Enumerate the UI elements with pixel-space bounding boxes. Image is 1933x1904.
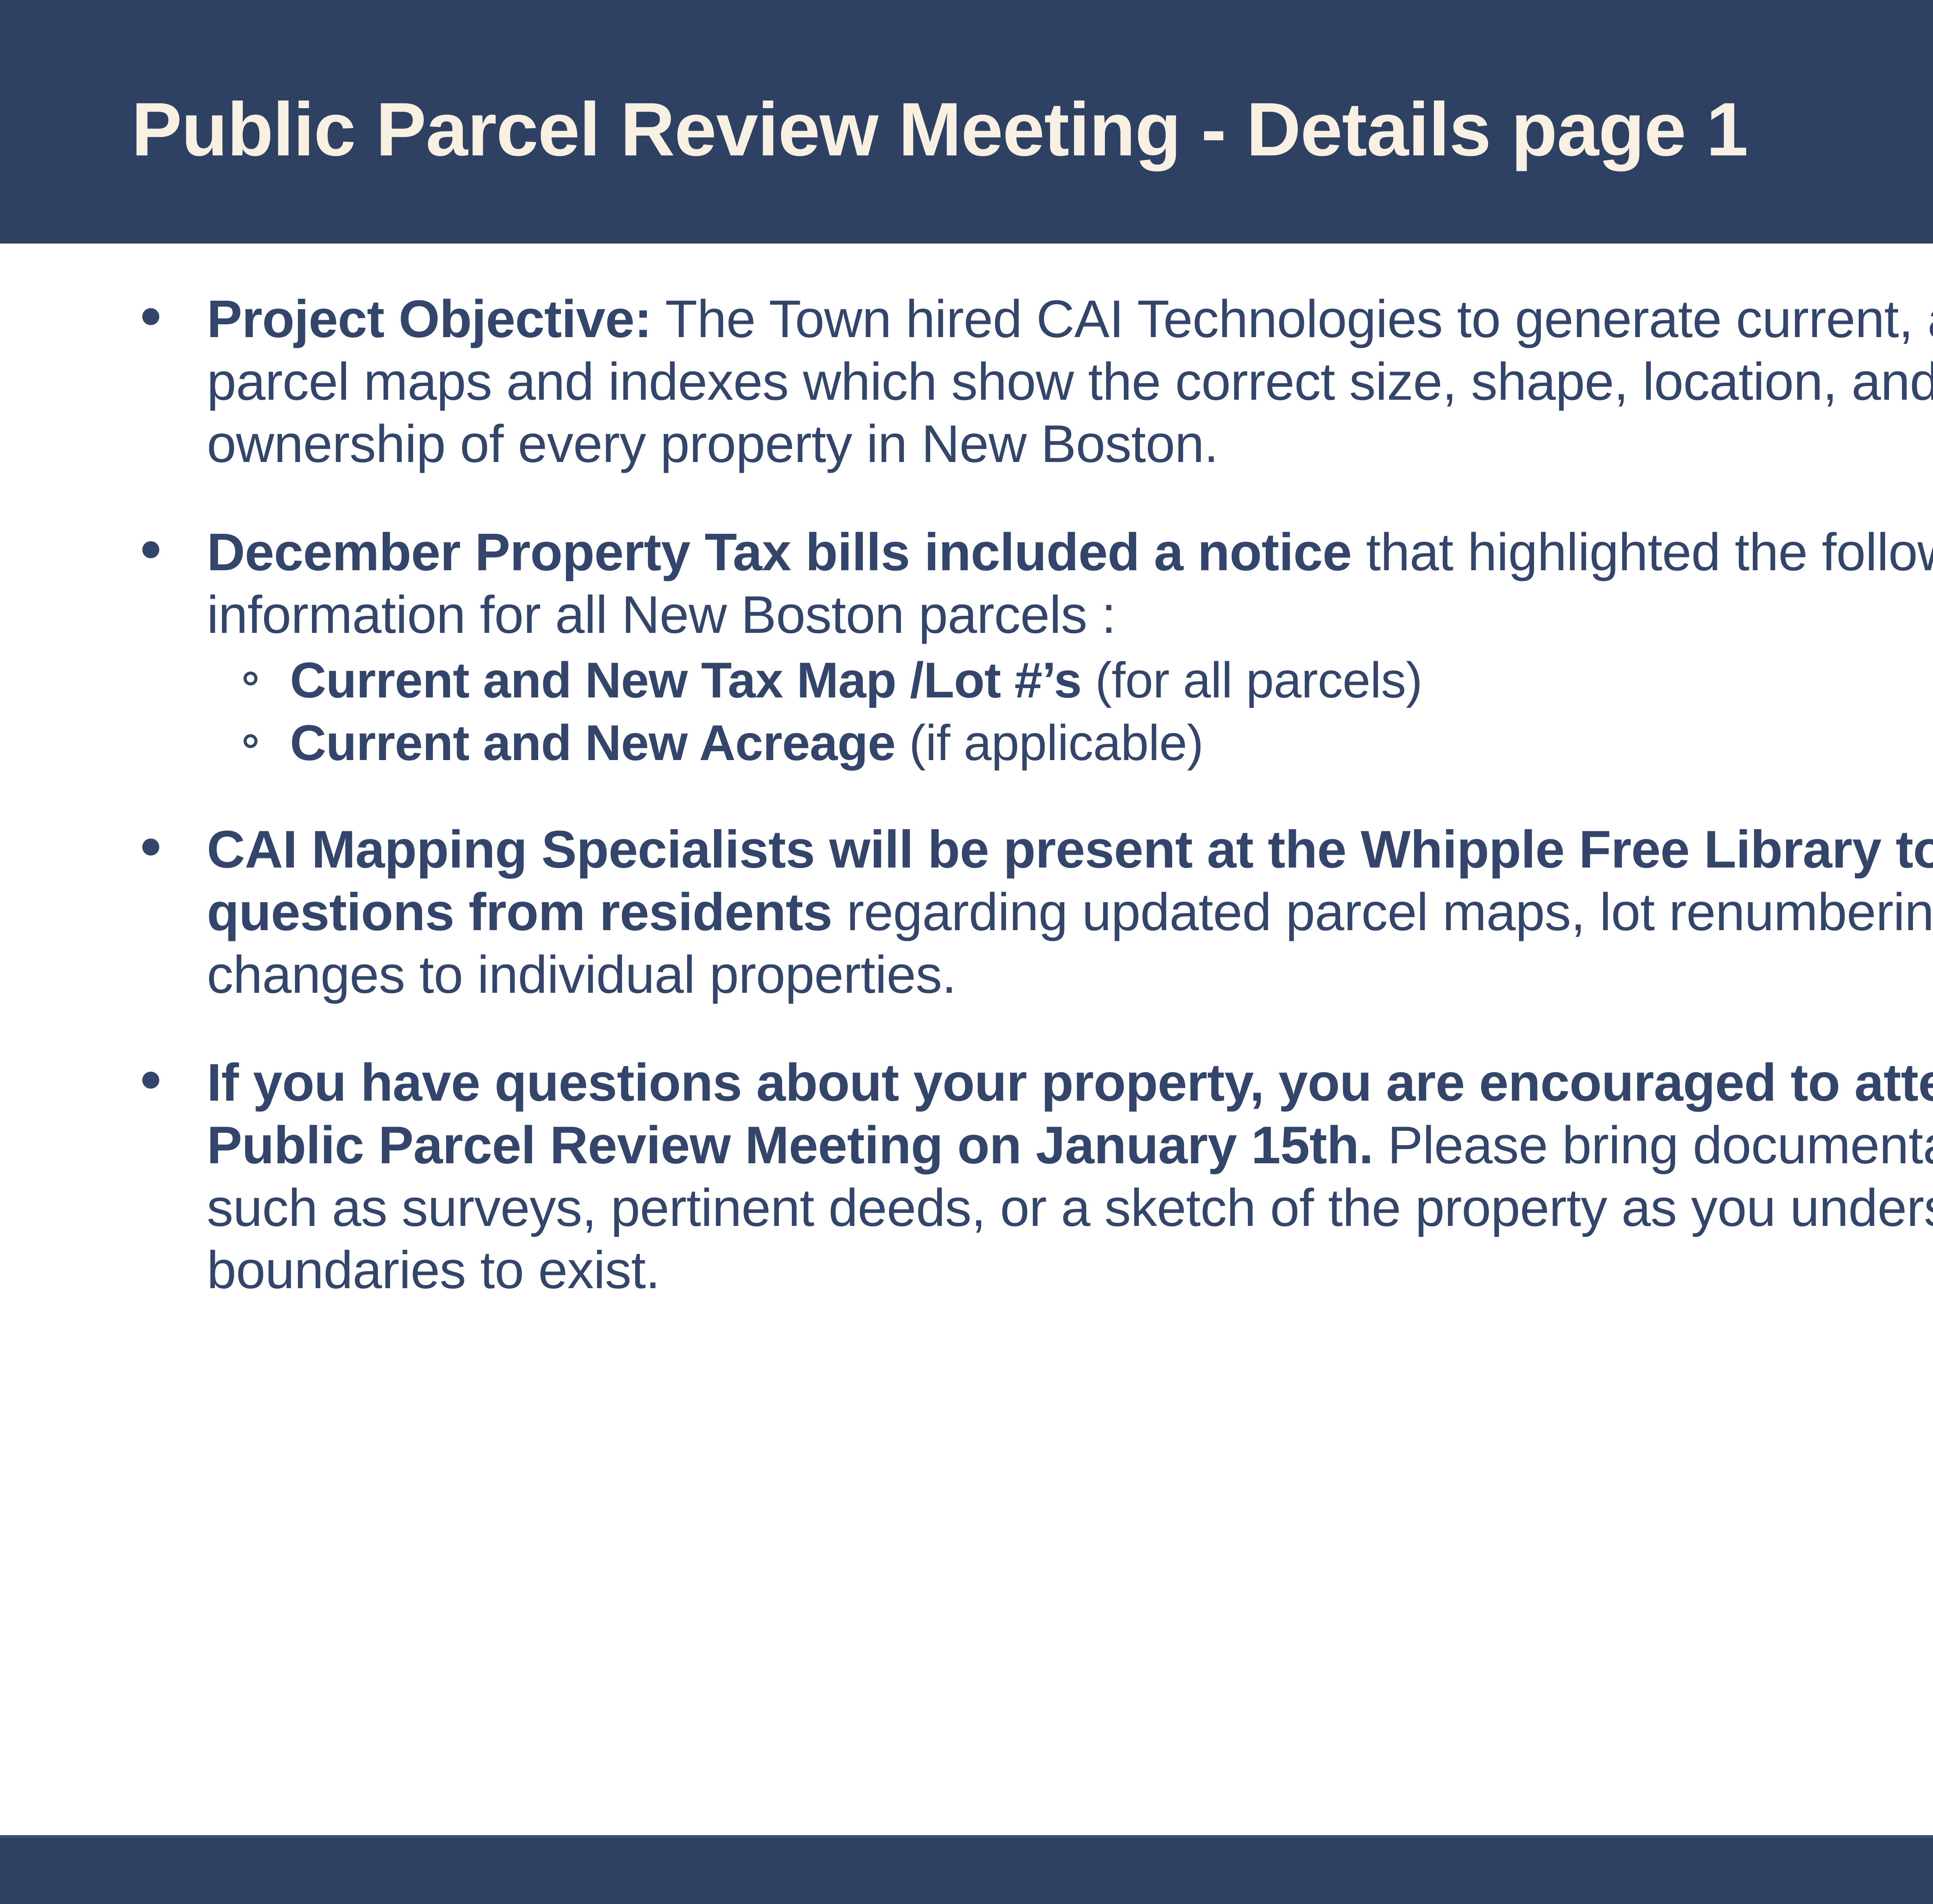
sub-bullet-rest: (if applicable) bbox=[895, 714, 1203, 771]
footer-bar bbox=[0, 1838, 1933, 1904]
sub-bullet-lead: Current and New Tax Map /Lot #’s bbox=[290, 652, 1081, 708]
list-item: December Property Tax bills included a n… bbox=[128, 521, 1933, 773]
bullet-marker-icon bbox=[142, 541, 159, 558]
bullet-text: CAI Mapping Specialists will be present … bbox=[207, 818, 1933, 1006]
bullet-marker-icon bbox=[142, 839, 159, 856]
sub-bullet-marker-icon bbox=[244, 672, 257, 685]
bullet-text: December Property Tax bills included a n… bbox=[207, 521, 1933, 646]
sub-list-item: Current and New Tax Map /Lot #’s (for al… bbox=[207, 650, 1933, 710]
sub-bullet-marker-icon bbox=[244, 734, 257, 748]
bullet-marker-icon bbox=[142, 308, 159, 325]
list-item: If you have questions about your propert… bbox=[128, 1052, 1933, 1302]
bullet-lead: Project Objective: bbox=[207, 290, 652, 349]
sub-bullet-rest: (for all parcels) bbox=[1081, 652, 1422, 708]
bullet-lead: December Property Tax bills included a n… bbox=[207, 523, 1352, 582]
header-bar: Public Parcel Review Meeting - Details p… bbox=[0, 0, 1933, 244]
sub-bullet-lead: Current and New Acreage bbox=[290, 714, 895, 771]
bullet-text: If you have questions about your propert… bbox=[207, 1052, 1933, 1302]
sub-list-item: Current and New Acreage (if applicable) bbox=[207, 713, 1933, 773]
bullet-text: Project Objective: The Town hired CAI Te… bbox=[207, 288, 1933, 476]
bullet-list: Project Objective: The Town hired CAI Te… bbox=[128, 288, 1933, 1302]
slide-body: Project Objective: The Town hired CAI Te… bbox=[0, 244, 1933, 1838]
list-item: CAI Mapping Specialists will be present … bbox=[128, 818, 1933, 1006]
slide: Public Parcel Review Meeting - Details p… bbox=[0, 0, 1933, 1904]
bullet-marker-icon bbox=[142, 1072, 159, 1089]
list-item: Project Objective: The Town hired CAI Te… bbox=[128, 288, 1933, 476]
footer-divider bbox=[0, 1835, 1933, 1838]
sub-bullet-list: Current and New Tax Map /Lot #’s (for al… bbox=[207, 650, 1933, 773]
page-title: Public Parcel Review Meeting - Details p… bbox=[131, 90, 1748, 169]
